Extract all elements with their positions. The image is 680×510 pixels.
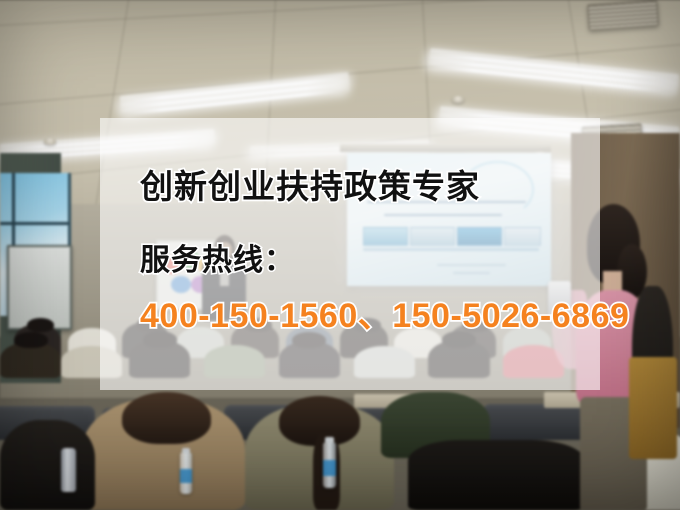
overlay-headline: 创新创业扶持政策专家 [140, 160, 480, 208]
attendee-head [122, 392, 210, 444]
smoke-detector [452, 96, 464, 103]
overlay-phone-numbers: 400-150-1560、150-5026-6869 [140, 288, 629, 337]
seminar-room-photo [0, 0, 680, 510]
thermos [61, 448, 76, 492]
overlay-hotline-label: 服务热线： [140, 235, 295, 279]
air-vent [587, 0, 659, 30]
foreground-attendee [408, 440, 585, 510]
water-bottle [180, 452, 192, 494]
foreground-attendee [0, 420, 95, 510]
water-bottle [323, 442, 336, 488]
smoke-detector [44, 138, 56, 145]
projector-screen-housing [340, 144, 551, 152]
standing-person-bag [629, 357, 677, 459]
photo-banner: 创新创业扶持政策专家 服务热线： 400-150-1560、150-5026-6… [0, 0, 680, 510]
